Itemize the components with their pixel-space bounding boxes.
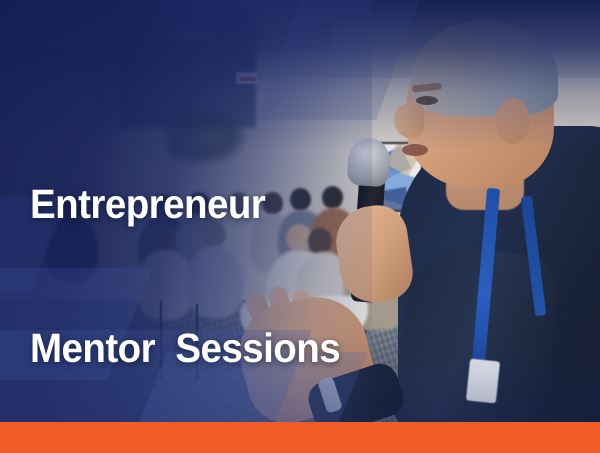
headline: Entrepreneur Mentor Sessions with Craig … <box>30 84 450 453</box>
headline-line-1: Entrepreneur <box>30 180 425 228</box>
event-promo-banner: Entrepreneur Mentor Sessions with Craig … <box>0 0 600 453</box>
headline-line-2: Mentor Sessions <box>30 324 425 372</box>
orange-accent-bar <box>0 422 600 453</box>
